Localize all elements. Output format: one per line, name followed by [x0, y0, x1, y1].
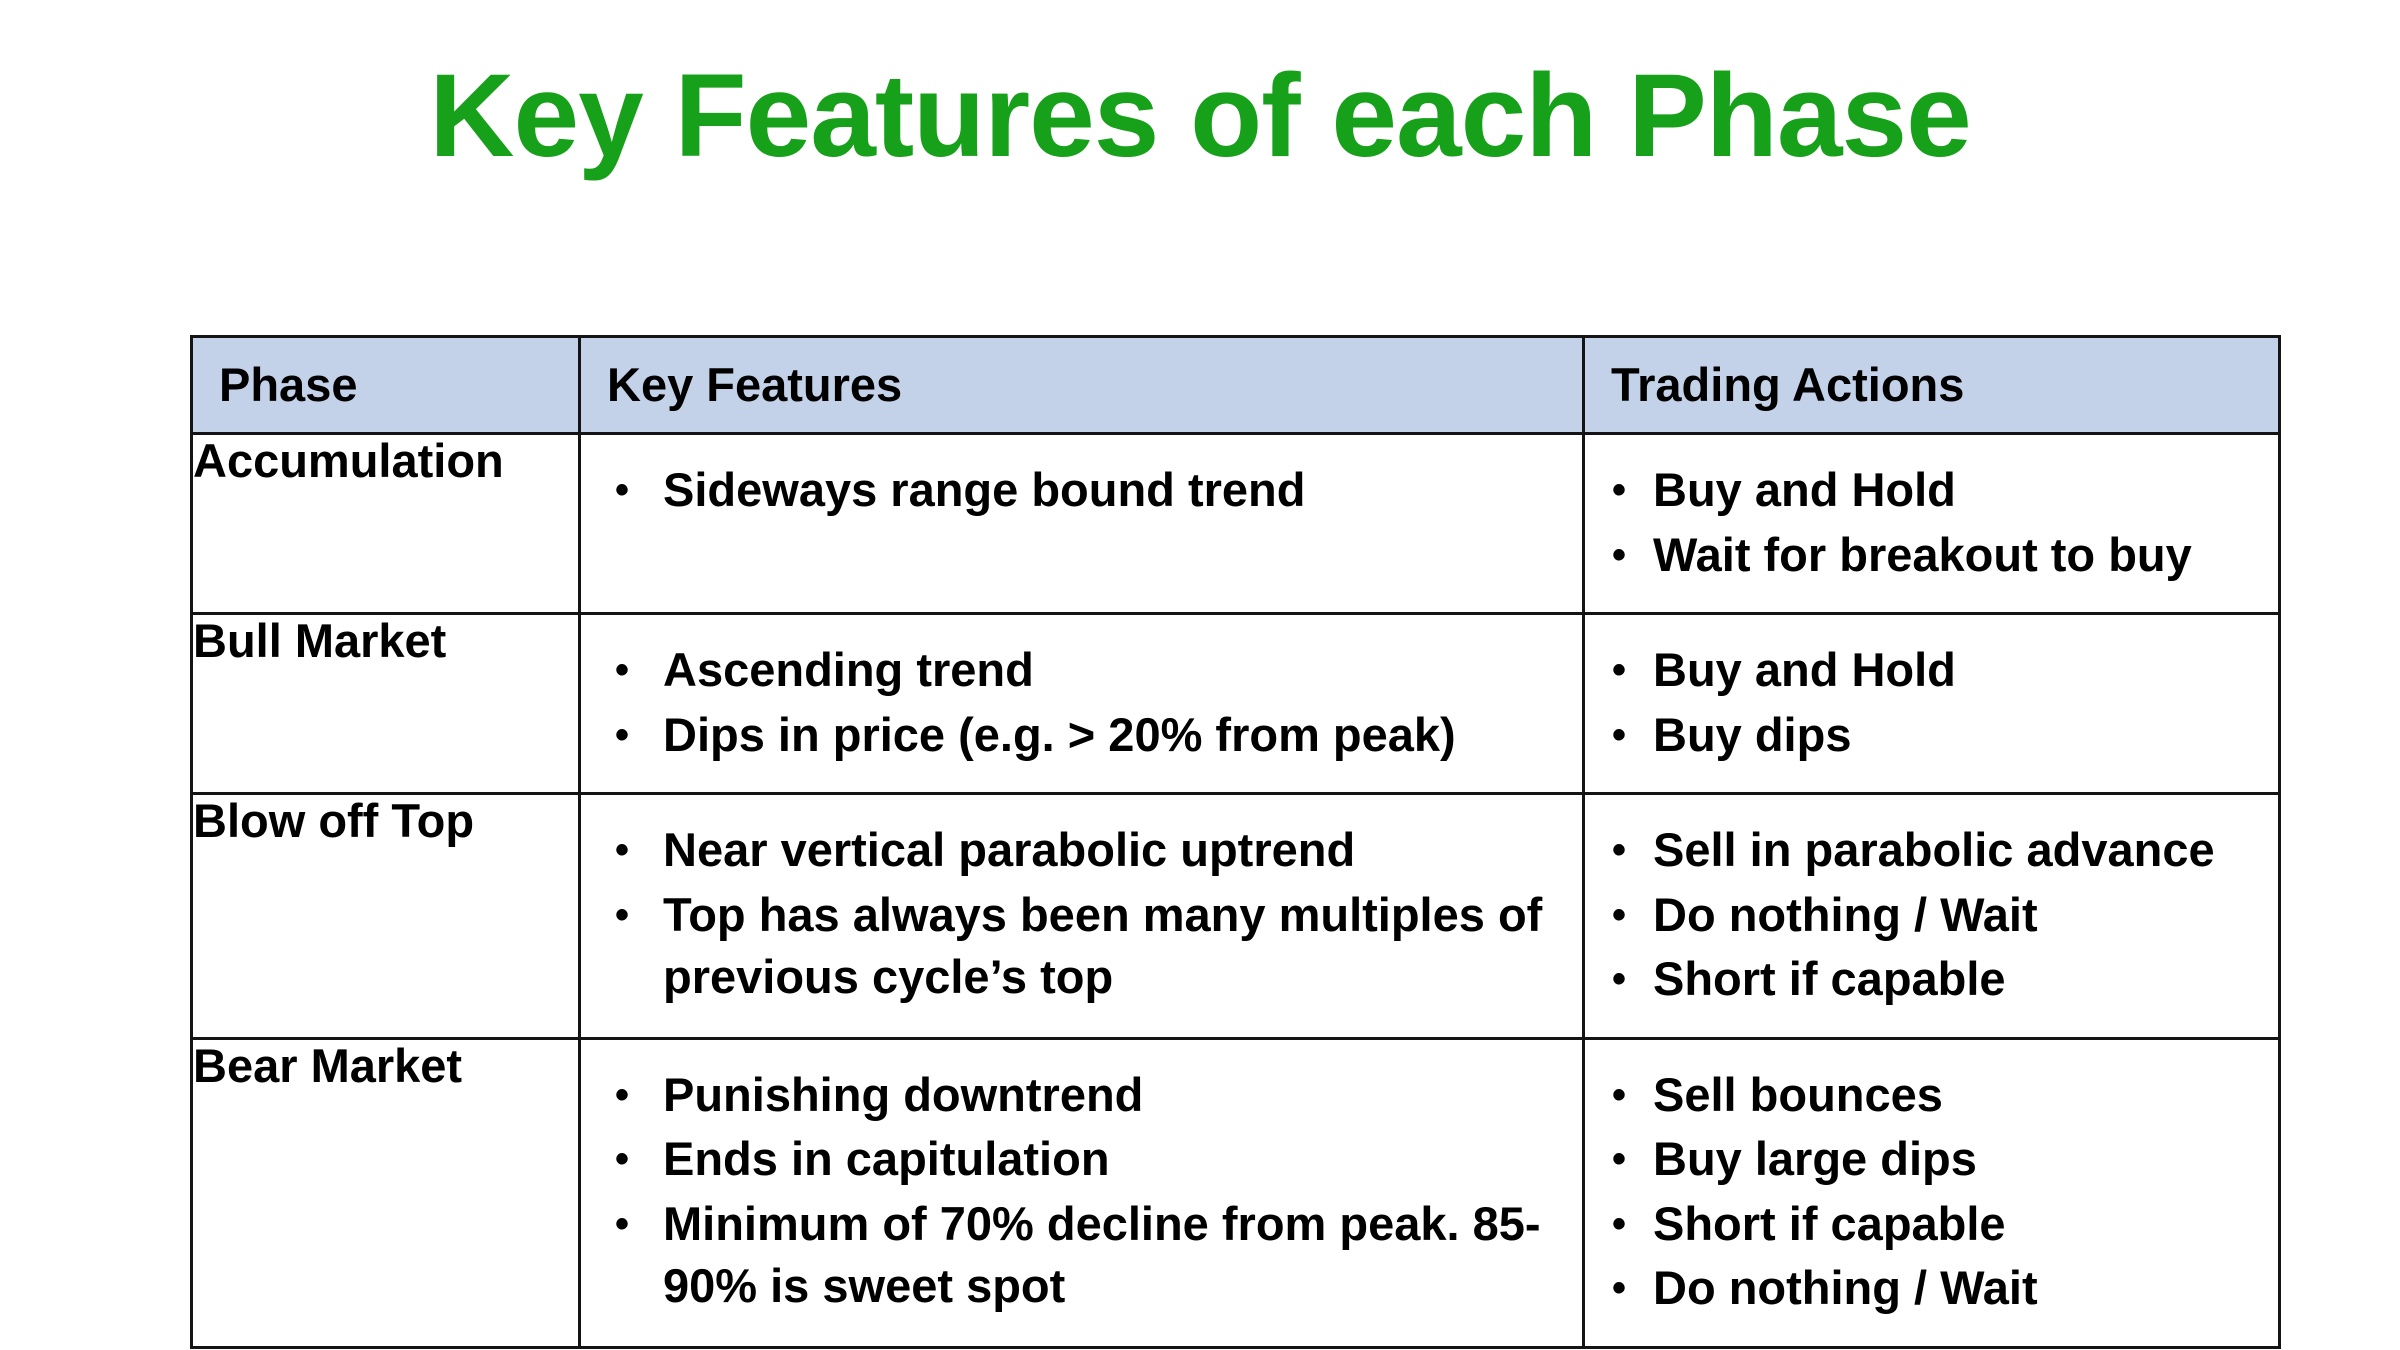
action-list: • Sell bounces • Buy large dips • Short …	[1585, 1040, 2278, 1346]
list-item: • Buy and Hold	[1585, 639, 2260, 702]
bullet-icon: •	[1585, 884, 1653, 946]
list-item: • Sideways range bound trend	[581, 459, 1564, 522]
list-item: • Sell in parabolic advance	[1585, 819, 2260, 882]
list-item: • Sell bounces	[1585, 1064, 2260, 1127]
key-features-cell: • Punishing downtrend • Ends in capitula…	[580, 1038, 1584, 1347]
action-list: • Buy and Hold • Buy dips	[1585, 615, 2278, 792]
list-item: • Wait for breakout to buy	[1585, 524, 2260, 587]
column-header-trading-actions: Trading Actions	[1584, 337, 2280, 434]
list-item: • Buy and Hold	[1585, 459, 2260, 522]
list-item: • Do nothing / Wait	[1585, 1257, 2260, 1320]
list-item-label: Minimum of 70% decline from peak. 85-90%…	[663, 1193, 1564, 1318]
bullet-icon: •	[581, 819, 663, 881]
table-row: Bear Market • Punishing downtrend • Ends…	[192, 1038, 2280, 1347]
bullet-icon: •	[581, 884, 663, 946]
feature-list: • Ascending trend • Dips in price (e.g. …	[581, 615, 1582, 792]
phase-name-cell: Accumulation	[192, 434, 580, 614]
list-item-label: Dips in price (e.g. > 20% from peak)	[663, 704, 1564, 767]
list-item-label: Short if capable	[1653, 1193, 2260, 1256]
table-row: Blow off Top • Near vertical parabolic u…	[192, 794, 2280, 1039]
table-header-row: Phase Key Features Trading Actions	[192, 337, 2280, 434]
list-item: • Buy large dips	[1585, 1128, 2260, 1191]
bullet-icon: •	[581, 459, 663, 521]
key-features-cell: • Near vertical parabolic uptrend • Top …	[580, 794, 1584, 1039]
trading-actions-cell: • Buy and Hold • Buy dips	[1584, 614, 2280, 794]
bullet-icon: •	[1585, 639, 1653, 701]
bullet-icon: •	[1585, 704, 1653, 766]
list-item: • Ascending trend	[581, 639, 1564, 702]
phase-name-cell: Bear Market	[192, 1038, 580, 1347]
column-header-key-features: Key Features	[580, 337, 1584, 434]
list-item-label: Do nothing / Wait	[1653, 1257, 2260, 1320]
bullet-icon: •	[581, 1128, 663, 1190]
bullet-icon: •	[581, 1064, 663, 1126]
bullet-icon: •	[1585, 819, 1653, 881]
list-item: • Short if capable	[1585, 948, 2260, 1011]
bullet-icon: •	[581, 1193, 663, 1255]
list-item: • Buy dips	[1585, 704, 2260, 767]
list-item: • Do nothing / Wait	[1585, 884, 2260, 947]
list-item: • Ends in capitulation	[581, 1128, 1564, 1191]
list-item-label: Near vertical parabolic uptrend	[663, 819, 1564, 882]
action-list: • Sell in parabolic advance • Do nothing…	[1585, 795, 2278, 1037]
feature-list: • Near vertical parabolic uptrend • Top …	[581, 795, 1582, 1035]
list-item: • Punishing downtrend	[581, 1064, 1564, 1127]
trading-actions-cell: • Buy and Hold • Wait for breakout to bu…	[1584, 434, 2280, 614]
list-item-label: Buy large dips	[1653, 1128, 2260, 1191]
table-row: Accumulation • Sideways range bound tren…	[192, 434, 2280, 614]
bullet-icon: •	[1585, 1257, 1653, 1319]
list-item: • Minimum of 70% decline from peak. 85-9…	[581, 1193, 1564, 1318]
bullet-icon: •	[1585, 459, 1653, 521]
list-item: • Short if capable	[1585, 1193, 2260, 1256]
key-features-cell: • Sideways range bound trend	[580, 434, 1584, 614]
list-item-label: Buy and Hold	[1653, 639, 2260, 702]
list-item-label: Sell in parabolic advance	[1653, 819, 2260, 882]
bullet-icon: •	[1585, 524, 1653, 586]
list-item-label: Sideways range bound trend	[663, 459, 1564, 522]
list-item-label: Do nothing / Wait	[1653, 884, 2260, 947]
phase-name-cell: Blow off Top	[192, 794, 580, 1039]
list-item-label: Ascending trend	[663, 639, 1564, 702]
bullet-icon: •	[581, 639, 663, 701]
bullet-icon: •	[1585, 948, 1653, 1010]
feature-list: • Sideways range bound trend	[581, 435, 1582, 548]
list-item: • Near vertical parabolic uptrend	[581, 819, 1564, 882]
list-item-label: Wait for breakout to buy	[1653, 524, 2260, 587]
bullet-icon: •	[1585, 1193, 1653, 1255]
phase-features-table: Phase Key Features Trading Actions Accum…	[190, 335, 2281, 1349]
list-item-label: Buy and Hold	[1653, 459, 2260, 522]
bullet-icon: •	[1585, 1064, 1653, 1126]
trading-actions-cell: • Sell in parabolic advance • Do nothing…	[1584, 794, 2280, 1039]
list-item: • Dips in price (e.g. > 20% from peak)	[581, 704, 1564, 767]
list-item-label: Ends in capitulation	[663, 1128, 1564, 1191]
list-item-label: Punishing downtrend	[663, 1064, 1564, 1127]
feature-list: • Punishing downtrend • Ends in capitula…	[581, 1040, 1582, 1344]
table-row: Bull Market • Ascending trend • Dips in …	[192, 614, 2280, 794]
list-item-label: Top has always been many multiples of pr…	[663, 884, 1564, 1009]
list-item-label: Short if capable	[1653, 948, 2260, 1011]
bullet-icon: •	[581, 704, 663, 766]
action-list: • Buy and Hold • Wait for breakout to bu…	[1585, 435, 2278, 612]
key-features-cell: • Ascending trend • Dips in price (e.g. …	[580, 614, 1584, 794]
phase-name-cell: Bull Market	[192, 614, 580, 794]
bullet-icon: •	[1585, 1128, 1653, 1190]
page-title: Key Features of each Phase	[0, 50, 2400, 182]
trading-actions-cell: • Sell bounces • Buy large dips • Short …	[1584, 1038, 2280, 1347]
column-header-phase: Phase	[192, 337, 580, 434]
list-item-label: Sell bounces	[1653, 1064, 2260, 1127]
list-item-label: Buy dips	[1653, 704, 2260, 767]
slide: Key Features of each Phase Phase Key Fea…	[0, 0, 2400, 1350]
list-item: • Top has always been many multiples of …	[581, 884, 1564, 1009]
